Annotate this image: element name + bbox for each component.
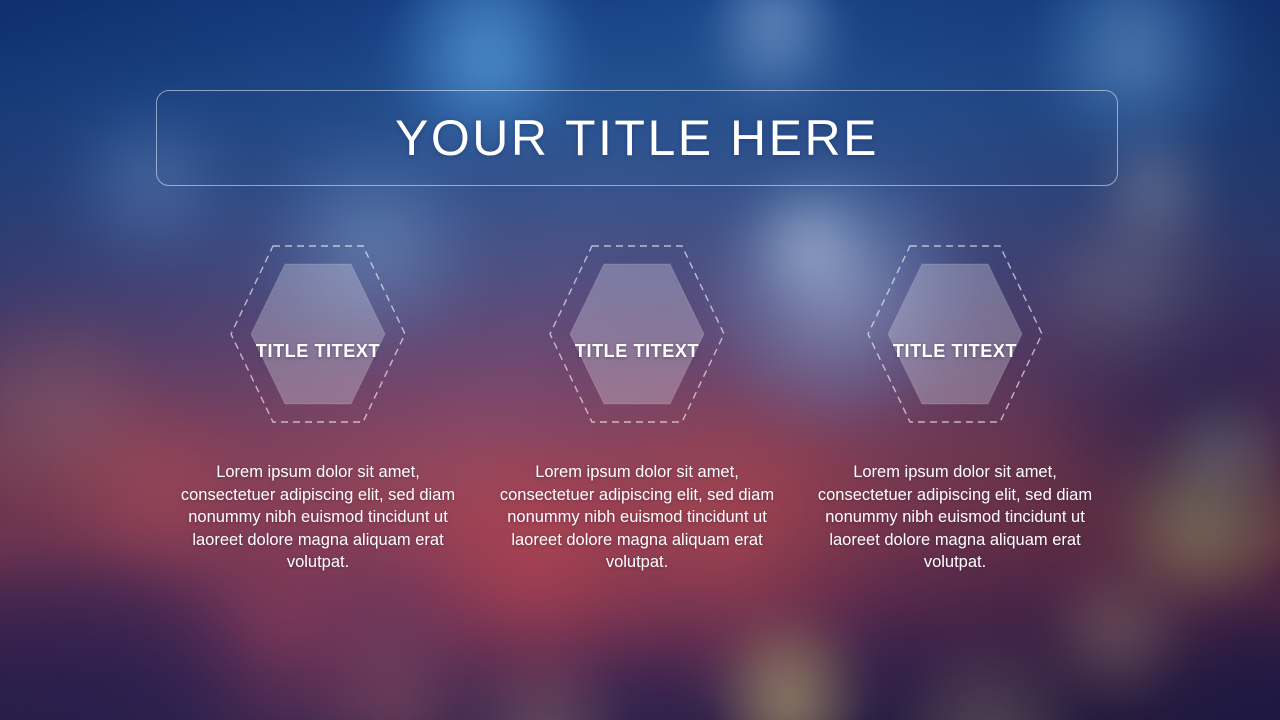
hexagon-badge[interactable]: TITLE TITEXT (228, 243, 408, 425)
hexagon-title: TITLE TITEXT (547, 243, 727, 425)
title-box[interactable]: YOUR TITLE HERE (156, 90, 1118, 186)
content-column: TITLE TITEXT Lorem ipsum dolor sit amet,… (158, 243, 478, 574)
content-columns: TITLE TITEXT Lorem ipsum dolor sit amet,… (0, 243, 1280, 643)
hexagon-badge[interactable]: TITLE TITEXT (547, 243, 727, 425)
hexagon-title: TITLE TITEXT (228, 243, 408, 425)
hexagon-title: TITLE TITEXT (865, 243, 1045, 425)
page-title: YOUR TITLE HERE (395, 113, 879, 163)
column-body-text: Lorem ipsum dolor sit amet, consectetuer… (477, 461, 797, 574)
column-body-text: Lorem ipsum dolor sit amet, consectetuer… (158, 461, 478, 574)
presentation-slide: YOUR TITLE HERE TITLE TITEXT Lorem ipsum… (0, 0, 1280, 720)
content-column: TITLE TITEXT Lorem ipsum dolor sit amet,… (795, 243, 1115, 574)
hexagon-badge[interactable]: TITLE TITEXT (865, 243, 1045, 425)
column-body-text: Lorem ipsum dolor sit amet, consectetuer… (795, 461, 1115, 574)
content-column: TITLE TITEXT Lorem ipsum dolor sit amet,… (477, 243, 797, 574)
